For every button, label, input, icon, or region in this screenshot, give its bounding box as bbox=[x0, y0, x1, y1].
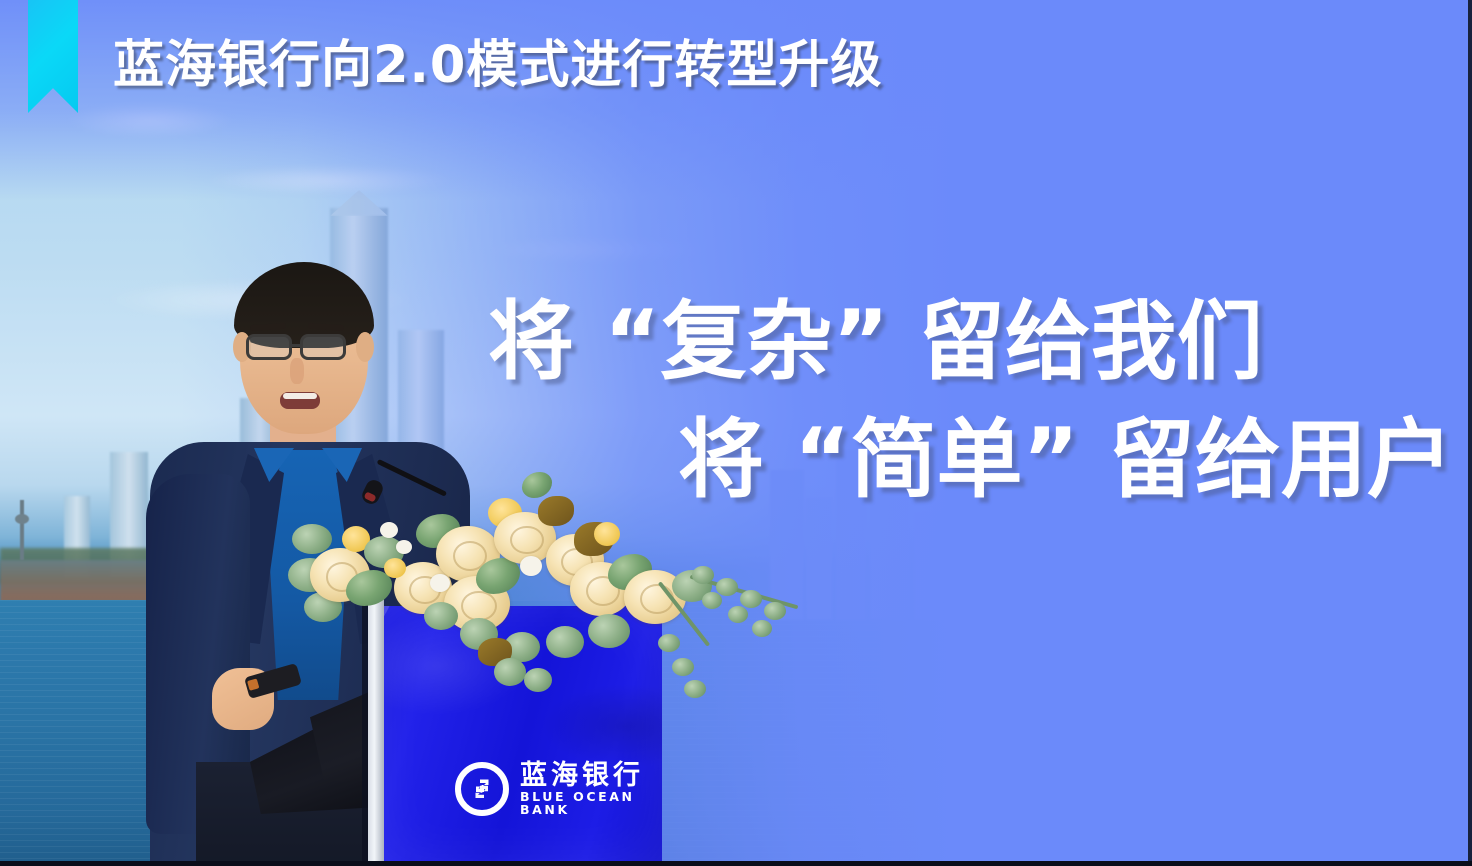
frame-edge-right bbox=[1468, 0, 1472, 866]
blue-overlay-top bbox=[0, 0, 1472, 200]
bank-logo: 蓝海银行 BLUE OCEAN BANK bbox=[455, 758, 655, 820]
blue-ocean-bank-swirl-logo-icon bbox=[455, 762, 509, 816]
slogan-line-2: 将 “简单” 留给用户 bbox=[678, 408, 1453, 513]
frame-edge-bottom bbox=[0, 861, 1472, 866]
page-title: 蓝海银行向2.0模式进行转型升级 bbox=[113, 37, 882, 96]
eyeglasses-icon bbox=[300, 334, 346, 360]
slogan-line-1: 将 “复杂” 留给我们 bbox=[488, 290, 1263, 395]
bank-logo-name-cn: 蓝海银行 bbox=[520, 762, 655, 789]
eyeglasses-icon bbox=[246, 334, 292, 360]
bank-logo-name-en: BLUE OCEAN BANK bbox=[520, 791, 655, 816]
presentation-slide: 蓝海银行 BLUE OCEAN BANK bbox=[0, 0, 1472, 866]
